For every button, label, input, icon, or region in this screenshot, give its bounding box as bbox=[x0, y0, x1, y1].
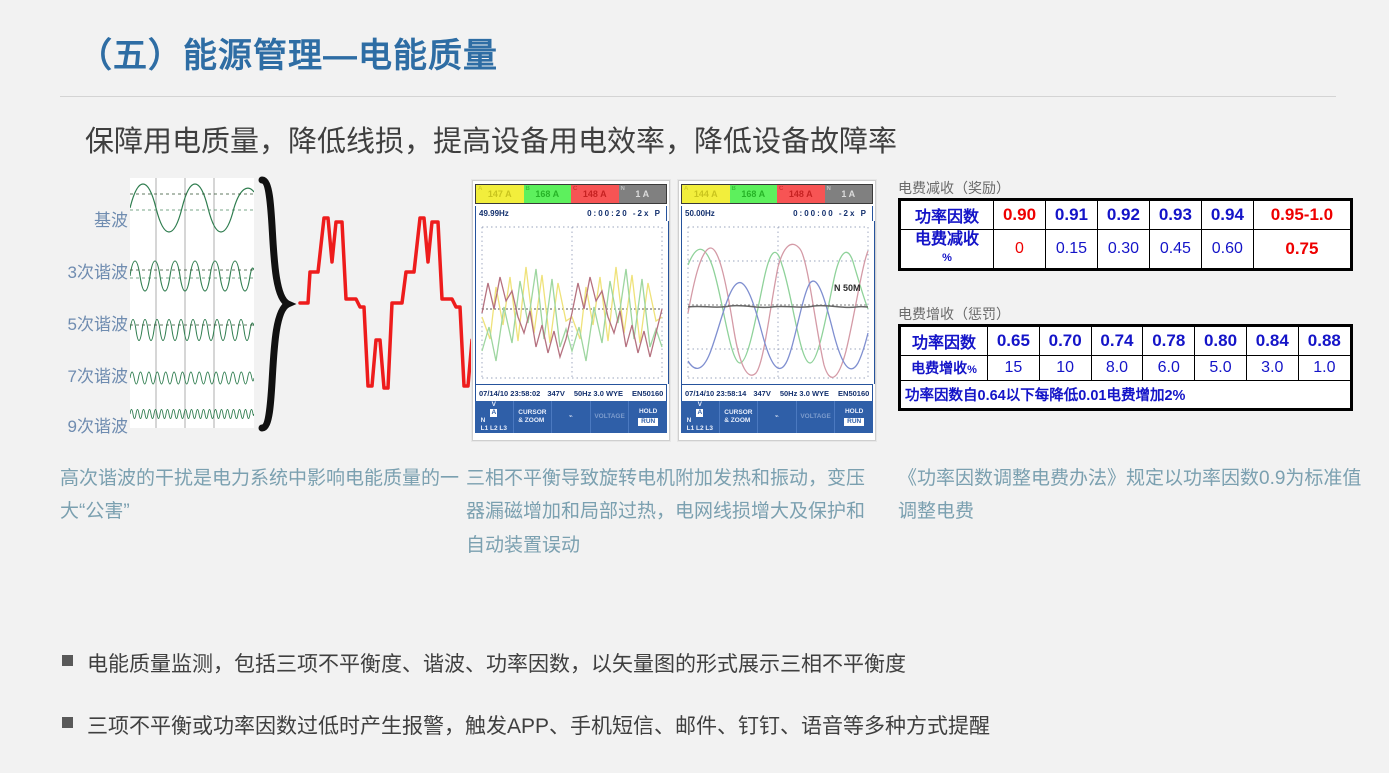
table-row: 电费增收% 15 10 8.0 6.0 5.0 3.0 1.0 bbox=[900, 356, 1352, 381]
harmonics-figure: 基波 3次谐波 5次谐波 7次谐波 9次谐波 bbox=[30, 180, 470, 440]
device2-phase-bar: A144 A B168 A C148 A N1 A bbox=[681, 184, 873, 204]
reward-pf-3: 0.93 bbox=[1149, 200, 1201, 230]
device2-softkey-channel[interactable]: V A NL1 L2 L3 bbox=[681, 401, 720, 433]
penalty-val-6: 1.0 bbox=[1298, 356, 1351, 381]
device1-softkey-bar: V A NL1 L2 L3 CURSOR& ZOOM ⌁ VOLTAGE HOL… bbox=[475, 401, 667, 433]
penalty-table-caption: 电费增收（惩罚） bbox=[898, 304, 1010, 324]
harmonic-label-9th: 9次谐波 bbox=[68, 412, 128, 437]
device1-meta: 0:00:20 -2x P bbox=[587, 209, 662, 218]
device2-softkey-voltage[interactable]: VOLTAGE bbox=[797, 401, 836, 433]
penalty-pf-1: 0.70 bbox=[1039, 326, 1091, 356]
device2-standard: EN50160 bbox=[838, 389, 869, 398]
device2-phase-n: N1 A bbox=[825, 185, 873, 203]
device1-phase-c: C148 A bbox=[571, 185, 619, 203]
list-item: 三项不平衡或功率因数过低时产生报警，触发APP、手机短信、邮件、钉钉、语音等多种… bbox=[62, 710, 1362, 740]
device1-config: 50Hz 3.0 WYE bbox=[574, 389, 623, 398]
device1-standard: EN50160 bbox=[632, 389, 663, 398]
penalty-val-0: 15 bbox=[988, 356, 1040, 381]
harmonic-label-5th: 5次谐波 bbox=[68, 310, 128, 335]
caption-unbalance: 三相不平衡导致旋转电机附加发热和振动，变压器漏磁增加和局部过热，电网线损增大及保… bbox=[466, 462, 866, 562]
device1-waveform-graph bbox=[475, 221, 669, 384]
penalty-val-1: 10 bbox=[1039, 356, 1091, 381]
reward-pf-5: 0.95-1.0 bbox=[1253, 200, 1351, 230]
list-item: 电能质量监测，包括三项不平衡度、谐波、功率因数，以矢量图的形式展示三相不平衡度 bbox=[62, 648, 1362, 678]
bullet-list: 电能质量监测，包括三项不平衡度、谐波、功率因数，以矢量图的形式展示三相不平衡度 … bbox=[62, 648, 1362, 772]
harmonic-label-fundamental: 基波 bbox=[94, 206, 128, 231]
harmonic-label-3rd: 3次谐波 bbox=[68, 258, 128, 283]
title-divider bbox=[60, 96, 1336, 97]
device1-softkey-trend[interactable]: ⌁ bbox=[552, 401, 591, 433]
device2-softkey-bar: V A NL1 L2 L3 CURSOR& ZOOM ⌁ VOLTAGE HOL… bbox=[681, 401, 873, 433]
device1-phase-n: N1 A bbox=[619, 185, 667, 203]
harmonic-label-7th: 7次谐波 bbox=[68, 362, 128, 387]
penalty-pf-5: 0.84 bbox=[1246, 326, 1298, 356]
page-title: （五）能源管理—电能质量 bbox=[78, 28, 498, 77]
penalty-pf-0: 0.65 bbox=[988, 326, 1040, 356]
device2-phase-a: A144 A bbox=[682, 185, 730, 203]
device1-timestamp: 07/14/10 23:58:02 bbox=[479, 389, 540, 398]
device2-frequency: 50.00Hz bbox=[685, 209, 715, 218]
reward-row2-label: 电费减收 % bbox=[900, 230, 994, 270]
device1-phase-b: B168 A bbox=[524, 185, 572, 203]
device2-timestamp: 07/14/10 23:58:14 bbox=[685, 389, 746, 398]
curly-brace-icon bbox=[254, 176, 300, 432]
device1-softkey-cursor-zoom[interactable]: CURSOR& ZOOM bbox=[514, 401, 553, 433]
device1-frequency: 49.99Hz bbox=[479, 209, 509, 218]
penalty-table: 功率因数 0.65 0.70 0.74 0.78 0.80 0.84 0.88 … bbox=[898, 324, 1353, 411]
penalty-pf-3: 0.78 bbox=[1143, 326, 1195, 356]
device2-overlay-label: N 50M bbox=[834, 283, 861, 293]
caption-harmonics: 高次谐波的干扰是电力系统中影响电能质量的一大“公害” bbox=[60, 462, 460, 529]
penalty-val-3: 6.0 bbox=[1143, 356, 1195, 381]
penalty-pf-4: 0.80 bbox=[1195, 326, 1247, 356]
device2-waveform-graph: N 50M bbox=[681, 221, 875, 384]
device2-phase-b: B168 A bbox=[730, 185, 778, 203]
page-subtitle: 保障用电质量，降低线损，提高设备用电效率，降低设备故障率 bbox=[85, 118, 897, 160]
device1-softkey-channel[interactable]: V A NL1 L2 L3 bbox=[475, 401, 514, 433]
device2-softkey-trend[interactable]: ⌁ bbox=[758, 401, 797, 433]
penalty-row1-label: 功率因数 bbox=[900, 326, 988, 356]
device2-meta: 0:00:00 -2x P bbox=[793, 209, 868, 218]
caption-power-factor: 《功率因数调整电费办法》规定以功率因数0.9为标准值调整电费 bbox=[898, 462, 1368, 529]
device2-softkey-cursor-zoom[interactable]: CURSOR& ZOOM bbox=[720, 401, 759, 433]
penalty-row2-label: 电费增收% bbox=[900, 356, 988, 381]
composite-distorted-waveform bbox=[298, 180, 478, 425]
device-screenshot-sine: A144 A B168 A C148 A N1 A 50.00Hz 0:00:0… bbox=[678, 180, 876, 441]
reward-val-5: 0.75 bbox=[1253, 230, 1351, 270]
penalty-pf-6: 0.88 bbox=[1298, 326, 1351, 356]
table-row: 功率因数 0.65 0.70 0.74 0.78 0.80 0.84 0.88 bbox=[900, 326, 1352, 356]
reward-pf-4: 0.94 bbox=[1201, 200, 1253, 230]
reward-val-3: 0.45 bbox=[1149, 230, 1201, 270]
bullet-text-2: 三项不平衡或功率因数过低时产生报警，触发APP、手机短信、邮件、钉钉、语音等多种… bbox=[87, 710, 990, 740]
penalty-note: 功率因数自0.64以下每降低0.01电费增加2% bbox=[900, 381, 1352, 410]
harmonic-waveforms-chart bbox=[130, 178, 254, 428]
penalty-val-4: 5.0 bbox=[1195, 356, 1247, 381]
bullet-square-icon bbox=[62, 717, 73, 728]
reward-table: 功率因数 0.90 0.91 0.92 0.93 0.94 0.95-1.0 电… bbox=[898, 198, 1353, 271]
reward-val-1: 0.15 bbox=[1045, 230, 1097, 270]
bullet-square-icon bbox=[62, 655, 73, 666]
device1-voltage: 347V bbox=[547, 389, 565, 398]
reward-pf-0: 0.90 bbox=[994, 200, 1046, 230]
device1-info-bar: 49.99Hz 0:00:20 -2x P bbox=[475, 206, 667, 221]
table-row: 功率因数自0.64以下每降低0.01电费增加2% bbox=[900, 381, 1352, 410]
reward-row1-label: 功率因数 bbox=[900, 200, 994, 230]
device2-softkey-hold-run[interactable]: HOLDRUN bbox=[835, 401, 873, 433]
reward-val-2: 0.30 bbox=[1097, 230, 1149, 270]
device1-phase-a: A147 A bbox=[476, 185, 524, 203]
device1-softkey-hold-run[interactable]: HOLDRUN bbox=[629, 401, 667, 433]
slide-root: （五）能源管理—电能质量 保障用电质量，降低线损，提高设备用电效率，降低设备故障… bbox=[0, 0, 1389, 773]
reward-pf-1: 0.91 bbox=[1045, 200, 1097, 230]
reward-table-caption: 电费减收（奖励） bbox=[898, 178, 1010, 198]
device2-voltage: 347V bbox=[753, 389, 771, 398]
penalty-pf-2: 0.74 bbox=[1091, 326, 1143, 356]
device-screenshot-distorted: A147 A B168 A C148 A N1 A 49.99Hz 0:00:2… bbox=[472, 180, 670, 441]
device1-softkey-voltage[interactable]: VOLTAGE bbox=[591, 401, 630, 433]
bullet-text-1: 电能质量监测，包括三项不平衡度、谐波、功率因数，以矢量图的形式展示三相不平衡度 bbox=[87, 648, 906, 678]
penalty-val-2: 8.0 bbox=[1091, 356, 1143, 381]
harmonics-label-list: 基波 3次谐波 5次谐波 7次谐波 9次谐波 bbox=[30, 180, 128, 440]
table-row: 电费减收 % 0 0.15 0.30 0.45 0.60 0.75 bbox=[900, 230, 1352, 270]
device1-phase-bar: A147 A B168 A C148 A N1 A bbox=[475, 184, 667, 204]
reward-val-0: 0 bbox=[994, 230, 1046, 270]
device2-info-bar: 50.00Hz 0:00:00 -2x P bbox=[681, 206, 873, 221]
device2-phase-c: C148 A bbox=[777, 185, 825, 203]
device2-config: 50Hz 3.0 WYE bbox=[780, 389, 829, 398]
reward-val-4: 0.60 bbox=[1201, 230, 1253, 270]
table-row: 功率因数 0.90 0.91 0.92 0.93 0.94 0.95-1.0 bbox=[900, 200, 1352, 230]
penalty-val-5: 3.0 bbox=[1246, 356, 1298, 381]
reward-pf-2: 0.92 bbox=[1097, 200, 1149, 230]
